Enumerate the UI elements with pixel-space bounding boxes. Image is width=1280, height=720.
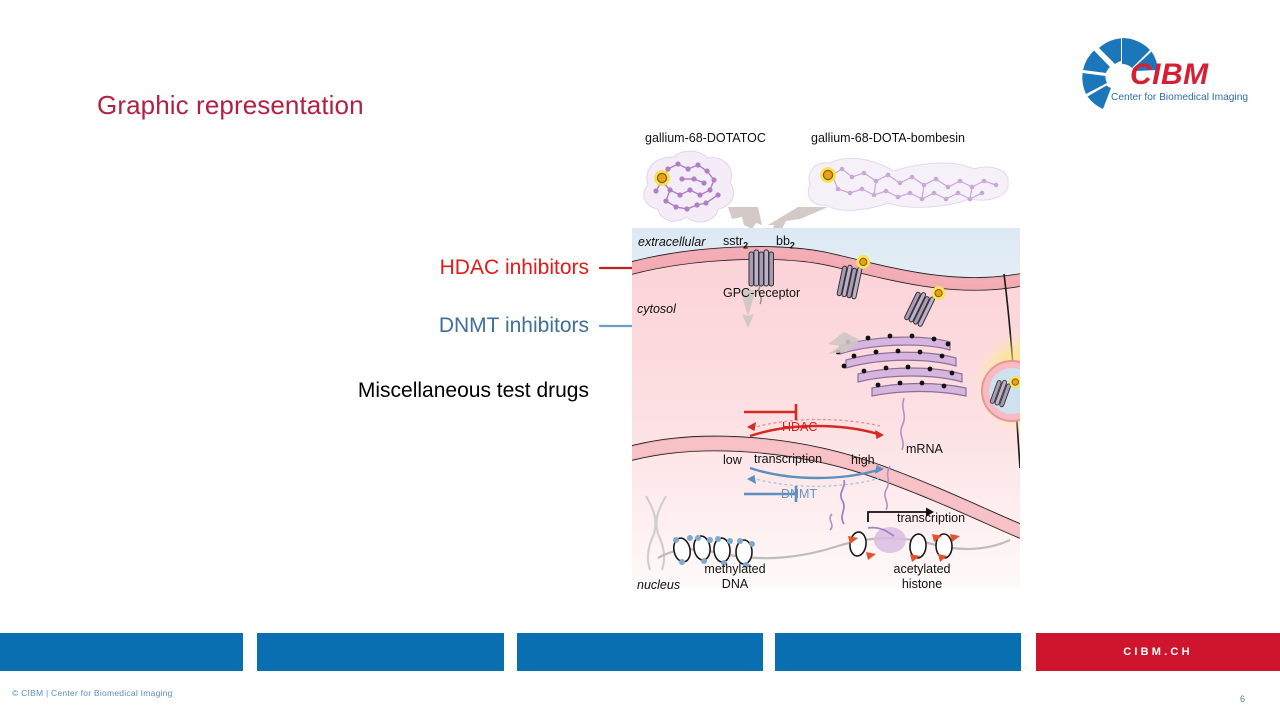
label-hdac-enzyme: HDAC xyxy=(782,420,817,434)
polymerase-bubble xyxy=(874,527,906,553)
callout-miscellaneous-test-drugs[interactable]: Miscellaneous test drugs xyxy=(219,379,589,403)
label-acetylated-histone: acetylatedhistone xyxy=(882,562,962,592)
label-transcription-axis: transcription xyxy=(754,452,822,466)
label-tracer-right: gallium-68-DOTA-bombesin xyxy=(811,131,965,145)
label-cytosol: cytosol xyxy=(637,302,676,316)
bb2-base: bb xyxy=(776,234,790,248)
bb2-subscript: 2 xyxy=(790,241,795,251)
dotatoc-molecule-icon xyxy=(644,151,734,222)
callout-dnmt-inhibitors[interactable]: DNMT inhibitors xyxy=(219,314,589,338)
footer-bar-2[interactable] xyxy=(257,633,504,671)
slide-canvas: CIBM Center for Biomedical Imaging Graph… xyxy=(0,0,1280,720)
footer-bar-4[interactable] xyxy=(775,633,1021,671)
label-nucleus: nucleus xyxy=(637,578,680,592)
logo-wordmark: CIBM xyxy=(1130,58,1209,91)
tracer-molecules-illustration xyxy=(632,145,1022,235)
label-gpc-receptor: GPC-receptor xyxy=(723,286,800,300)
label-transcription-high: high xyxy=(851,453,875,467)
label-dnmt-enzyme: DNMT xyxy=(781,487,817,501)
label-sstr2: sstr2 xyxy=(723,234,748,251)
footer-bar-row: CIBM.CH xyxy=(0,633,1280,671)
label-mrna: mRNA xyxy=(906,442,943,456)
cell-signaling-diagram xyxy=(632,228,1020,588)
label-bb2: bb2 xyxy=(776,234,795,251)
acetylated-line-1: acetylated xyxy=(894,562,951,576)
page-number: 6 xyxy=(1240,694,1245,704)
label-tracer-left: gallium-68-DOTATOC xyxy=(645,131,766,145)
label-transcription-arrow: transcription xyxy=(897,511,965,525)
label-methylated-dna: methylatedDNA xyxy=(695,562,775,592)
bombesin-molecule-icon xyxy=(808,158,1008,210)
label-transcription-low: low xyxy=(723,453,742,467)
copyright-text: © CIBM | Center for Biomedical Imaging xyxy=(12,688,173,698)
label-extracellular: extracellular xyxy=(638,235,705,249)
page-title: Graphic representation xyxy=(97,90,364,121)
acetylated-line-2: histone xyxy=(902,577,942,591)
sstr2-subscript: 2 xyxy=(743,241,748,251)
footer-bar-1[interactable] xyxy=(0,633,243,671)
cibm-logo[interactable]: CIBM Center for Biomedical Imaging xyxy=(1070,26,1250,116)
footer-bar-3[interactable] xyxy=(517,633,763,671)
logo-tagline: Center for Biomedical Imaging xyxy=(1111,92,1248,103)
methylated-line-1: methylated xyxy=(704,562,765,576)
callout-hdac-inhibitors[interactable]: HDAC inhibitors xyxy=(219,256,589,280)
footer-bar-website[interactable]: CIBM.CH xyxy=(1036,633,1280,671)
sstr2-base: sstr xyxy=(723,234,743,248)
methylated-line-2: DNA xyxy=(722,577,748,591)
website-label: CIBM.CH xyxy=(1123,646,1192,658)
